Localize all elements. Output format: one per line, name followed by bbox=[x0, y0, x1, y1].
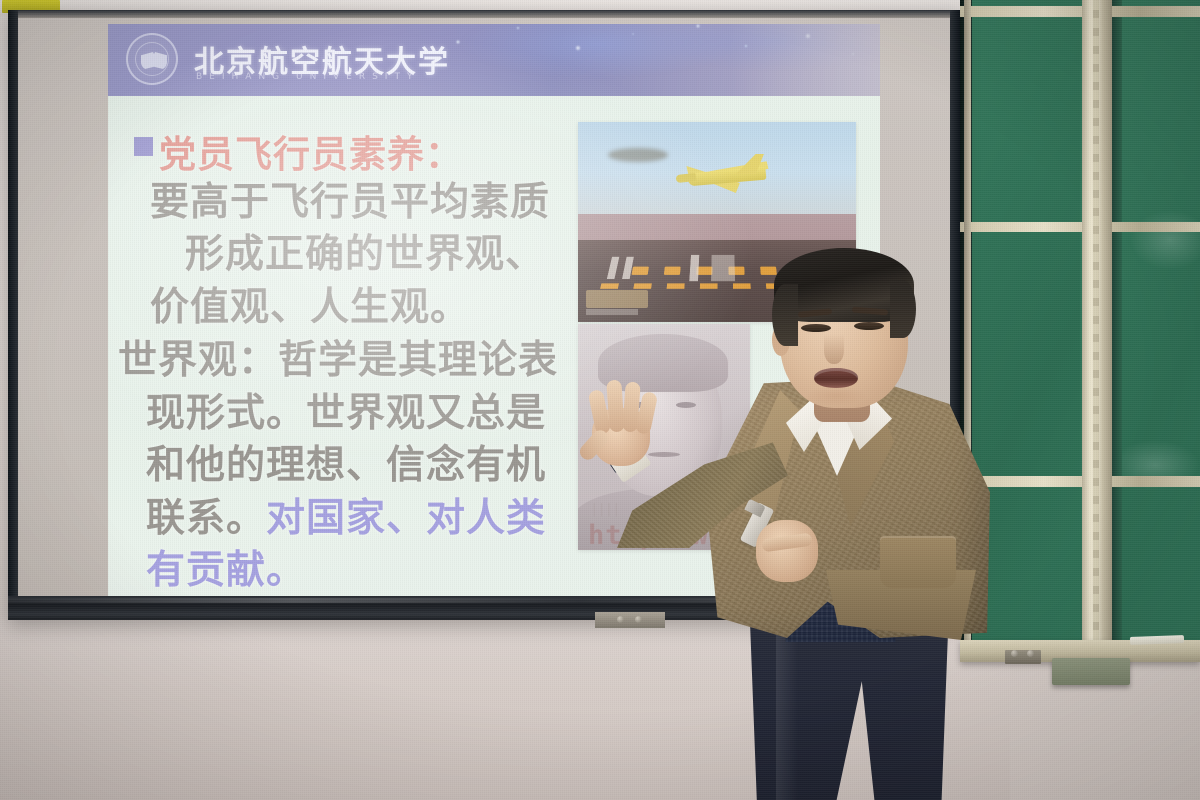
banner-fade bbox=[730, 24, 880, 96]
screen-left-edge bbox=[8, 10, 18, 620]
square-bullet-icon bbox=[134, 137, 153, 156]
mouth bbox=[814, 368, 858, 388]
slide-line-4: 世界观：哲学是其理论表 bbox=[118, 329, 558, 385]
slide-line-7-mixed: 联系。对国家、对人类 bbox=[146, 487, 546, 543]
chalk-smudge bbox=[1130, 210, 1200, 270]
seal-book-glyph bbox=[141, 52, 167, 70]
eye-right bbox=[854, 322, 884, 330]
board-rail-vertical-center[interactable] bbox=[1082, 0, 1112, 652]
slide-line-7-accent: 对国家、对人类 bbox=[266, 496, 546, 541]
blazer-pocket bbox=[880, 536, 956, 588]
jet-shadow bbox=[608, 148, 668, 162]
screen-top-rail bbox=[8, 10, 960, 18]
nose bbox=[824, 334, 844, 364]
lecturer bbox=[580, 250, 1000, 800]
chalkboard-eraser[interactable] bbox=[1052, 658, 1130, 685]
fighter-jet-icon bbox=[670, 150, 782, 202]
chin bbox=[806, 386, 866, 406]
slide-line-3: 价值观、人生观。 bbox=[150, 276, 470, 332]
slide-line-2: 形成正确的世界观、 bbox=[185, 223, 545, 279]
hair-side-right bbox=[890, 280, 916, 338]
ledge-bracket bbox=[1005, 650, 1041, 664]
university-name-en: BEIHANG UNIVERSITY bbox=[196, 72, 419, 82]
slide-line-6: 和他的理想、信念有机 bbox=[146, 434, 546, 490]
slide-title: 党员飞行员素养： bbox=[159, 124, 463, 178]
board-rail-horizontal-mid[interactable] bbox=[960, 222, 1200, 232]
slide-line-8-accent: 有贡献。 bbox=[146, 539, 306, 595]
hair-side-left bbox=[772, 284, 798, 346]
slide-banner: 北京航空航天大学 BEIHANG UNIVERSITY bbox=[108, 24, 880, 96]
chalkboard-panel-right bbox=[1120, 0, 1200, 652]
raised-hand bbox=[586, 374, 658, 466]
slide-line-1: 要高于飞行员平均素质 bbox=[150, 171, 550, 227]
slide-line-7-gray: 联系。 bbox=[146, 496, 266, 541]
lecture-photo: 北京航空航天大学 BEIHANG UNIVERSITY 党员飞行员素养： 要高于… bbox=[0, 0, 1200, 800]
university-seal-icon bbox=[126, 33, 178, 85]
board-rail-horizontal-top[interactable] bbox=[960, 6, 1200, 17]
eye-left bbox=[801, 324, 831, 332]
slide-line-5: 现形式。世界观又总是 bbox=[146, 382, 546, 438]
